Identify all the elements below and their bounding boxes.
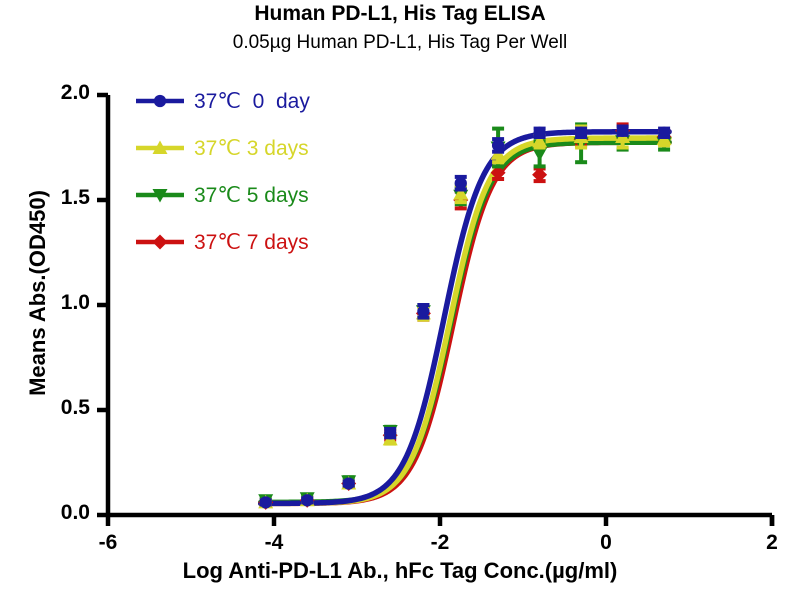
x-tick-label: -4 (254, 531, 294, 555)
data-point-circle (492, 139, 504, 151)
data-point-circle (384, 427, 396, 439)
data-points-group (258, 123, 671, 510)
y-tick-label: 2.0 (30, 81, 90, 105)
y-tick-label: 1.0 (30, 291, 90, 315)
data-point-circle (616, 125, 628, 137)
legend-item[interactable]: 37℃ 0 day (134, 86, 310, 116)
chart-title: Human PD-L1, His Tag ELISA (0, 2, 800, 26)
data-point-circle (260, 496, 272, 508)
series-points (260, 125, 671, 509)
chart-subtitle: 0.05µg Human PD-L1, His Tag Per Well (0, 32, 800, 54)
data-point-diamond (153, 235, 168, 250)
legend-item[interactable]: 37℃ 5 days (134, 180, 309, 210)
legend-marker-triangle-up-icon (134, 136, 186, 160)
legend-item-label: 37℃ 5 days (194, 183, 309, 208)
legend-item-label: 37℃ 3 days (194, 136, 309, 161)
legend-item-label: 37℃ 0 day (194, 89, 310, 114)
data-point-circle (575, 127, 587, 139)
data-point-circle (301, 494, 313, 506)
x-tick-label: -6 (88, 531, 128, 555)
x-axis-label: Log Anti-PD-L1 Ab., hFc Tag Conc.(µg/ml) (0, 558, 800, 584)
x-tick-label: 0 (586, 531, 626, 555)
y-tick-label: 0.0 (30, 501, 90, 525)
legend-marker-triangle-down-icon (134, 183, 186, 207)
data-point-circle (417, 305, 429, 317)
x-tick-label: 2 (752, 531, 792, 555)
chart-figure: Human PD-L1, His Tag ELISA 0.05µg Human … (0, 0, 800, 600)
data-point-triangle-down (532, 148, 547, 162)
y-tick-label: 0.5 (30, 396, 90, 420)
data-point-circle (658, 127, 670, 139)
legend-marker-circle-icon (134, 89, 186, 113)
data-point-circle (533, 127, 545, 139)
data-point-circle (455, 177, 467, 189)
data-point-circle (154, 95, 166, 107)
x-tick-label: -2 (420, 531, 460, 555)
legend-item[interactable]: 37℃ 3 days (134, 133, 309, 163)
data-point-circle (343, 477, 355, 489)
legend-item-label: 37℃ 7 days (194, 230, 309, 255)
y-tick-label: 1.5 (30, 186, 90, 210)
legend-item[interactable]: 37℃ 7 days (134, 227, 309, 257)
plot-canvas (0, 0, 800, 600)
legend-marker-diamond-icon (134, 230, 186, 254)
